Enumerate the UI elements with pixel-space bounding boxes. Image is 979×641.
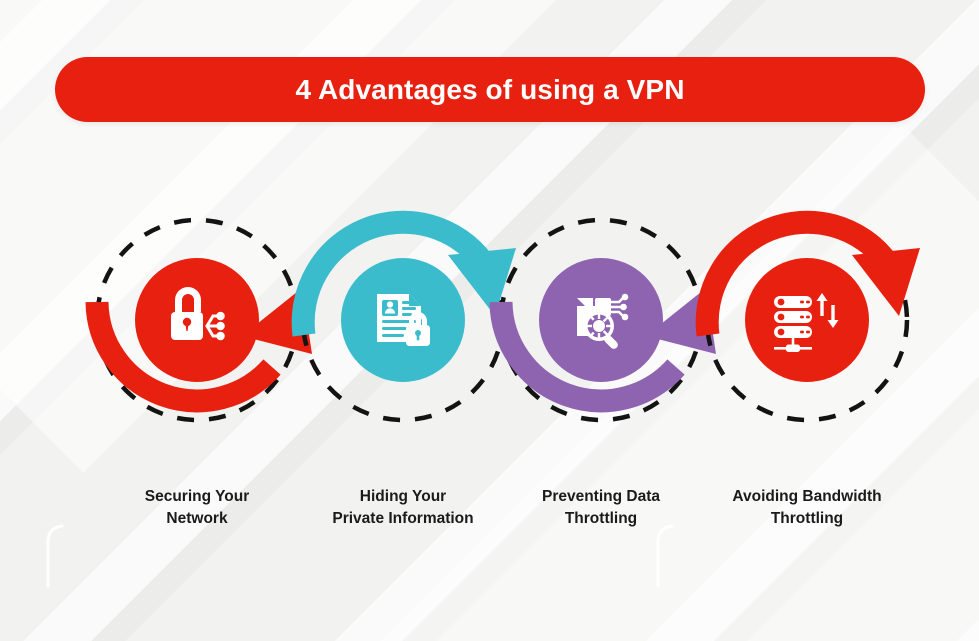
page-title: 4 Advantages of using a VPN (295, 74, 684, 106)
step-group-1 (97, 220, 312, 420)
step-4-label: Avoiding Bandwidth Throttling (692, 486, 922, 530)
step-group-4 (707, 220, 920, 420)
step-2-label-line1: Hiding Your (360, 488, 446, 505)
step-group-3 (501, 220, 716, 420)
title-banner: 4 Advantages of using a VPN (55, 57, 925, 122)
step-3-label-line2: Throttling (565, 510, 637, 527)
step-3-label-line1: Preventing Data (542, 488, 660, 505)
step-labels-row: Securing Your Network Hiding Your Privat… (0, 486, 979, 556)
step-1-label-line1: Securing Your (145, 488, 250, 505)
step-1-label-line2: Network (166, 510, 227, 527)
step-1-label: Securing Your Network (82, 486, 312, 530)
step-3-label: Preventing Data Throttling (486, 486, 716, 530)
step-group-2 (303, 220, 516, 420)
step-2-label: Hiding Your Private Information (288, 486, 518, 530)
step-4-label-line2: Throttling (771, 510, 843, 527)
process-flow-diagram (0, 170, 979, 470)
step-4-label-line1: Avoiding Bandwidth (732, 488, 881, 505)
step-2-label-line2: Private Information (332, 510, 473, 527)
vpn-advantages-infographic: 4 Advantages of using a VPN (0, 0, 979, 641)
